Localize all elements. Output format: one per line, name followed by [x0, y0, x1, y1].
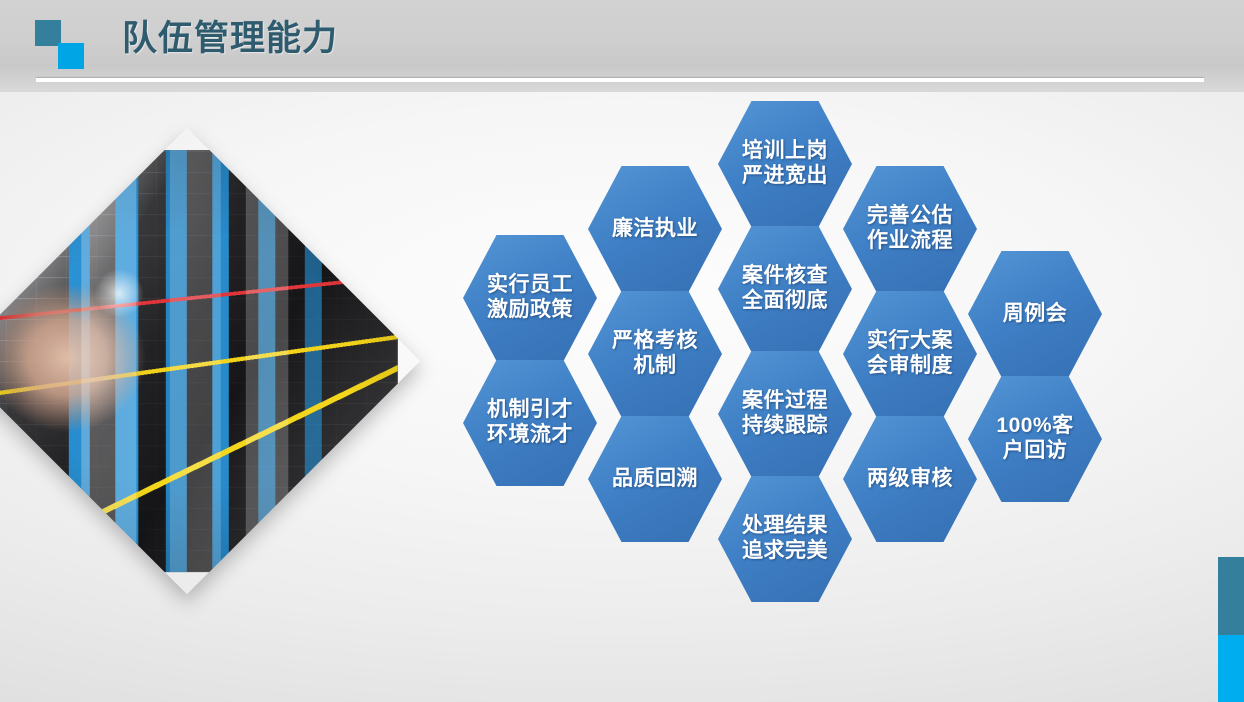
hex-case-tracking[interactable]: 案件过程 持续跟踪 [718, 351, 852, 477]
hex-training-onboarding[interactable]: 培训上岗 严进宽出 [718, 101, 852, 227]
hex-assessment-workflow[interactable]: 完善公估 作业流程 [843, 166, 977, 292]
hex-weekly-meeting-label: 周例会 [997, 302, 1074, 327]
hex-staff-incentive-label: 实行员工 激励政策 [481, 273, 579, 323]
slide-canvas: 队伍管理能力 实行员工 激励政策机制引才 环境流才廉洁执业严格考核 机制品质回溯… [0, 0, 1244, 702]
hexagon-grid: 实行员工 激励政策机制引才 环境流才廉洁执业严格考核 机制品质回溯培训上岗 严进… [0, 0, 1244, 702]
hex-training-onboarding-label: 培训上岗 严进宽出 [736, 139, 834, 189]
hex-two-level-audit-label: 两级审核 [861, 467, 959, 492]
hex-customer-revisit-label: 100%客 户回访 [990, 414, 1079, 464]
title-divider-rule [36, 78, 1204, 82]
hex-weekly-meeting[interactable]: 周例会 [968, 251, 1102, 377]
hex-result-perfection[interactable]: 处理结果 追求完美 [718, 476, 852, 602]
hex-major-case-review-label: 实行大案 会审制度 [861, 329, 959, 379]
hex-talent-mechanism[interactable]: 机制引才 环境流才 [463, 360, 597, 486]
hex-major-case-review[interactable]: 实行大案 会审制度 [843, 291, 977, 417]
page-title: 队伍管理能力 [122, 17, 338, 61]
hex-case-verification[interactable]: 案件核查 全面彻底 [718, 226, 852, 352]
edge-block-blue [1218, 635, 1244, 702]
hex-assessment-workflow-label: 完善公估 作业流程 [861, 204, 959, 254]
hex-result-perfection-label: 处理结果 追求完美 [736, 514, 834, 564]
hex-staff-incentive[interactable]: 实行员工 激励政策 [463, 235, 597, 361]
hex-strict-assessment-label: 严格考核 机制 [606, 329, 704, 379]
hex-two-level-audit[interactable]: 两级审核 [843, 416, 977, 542]
hex-customer-revisit[interactable]: 100%客 户回访 [968, 376, 1102, 502]
logo-square-blue-icon [58, 43, 84, 69]
hex-quality-traceback[interactable]: 品质回溯 [588, 416, 722, 542]
hex-integrity-practice[interactable]: 廉洁执业 [588, 166, 722, 292]
edge-block-teal [1218, 557, 1244, 635]
hex-integrity-practice-label: 廉洁执业 [606, 217, 704, 242]
slide-header: 队伍管理能力 [0, 0, 1244, 92]
hex-case-verification-label: 案件核查 全面彻底 [736, 264, 834, 314]
hex-strict-assessment[interactable]: 严格考核 机制 [588, 291, 722, 417]
hex-talent-mechanism-label: 机制引才 环境流才 [481, 398, 579, 448]
hex-case-tracking-label: 案件过程 持续跟踪 [736, 389, 834, 439]
hex-quality-traceback-label: 品质回溯 [606, 467, 704, 492]
